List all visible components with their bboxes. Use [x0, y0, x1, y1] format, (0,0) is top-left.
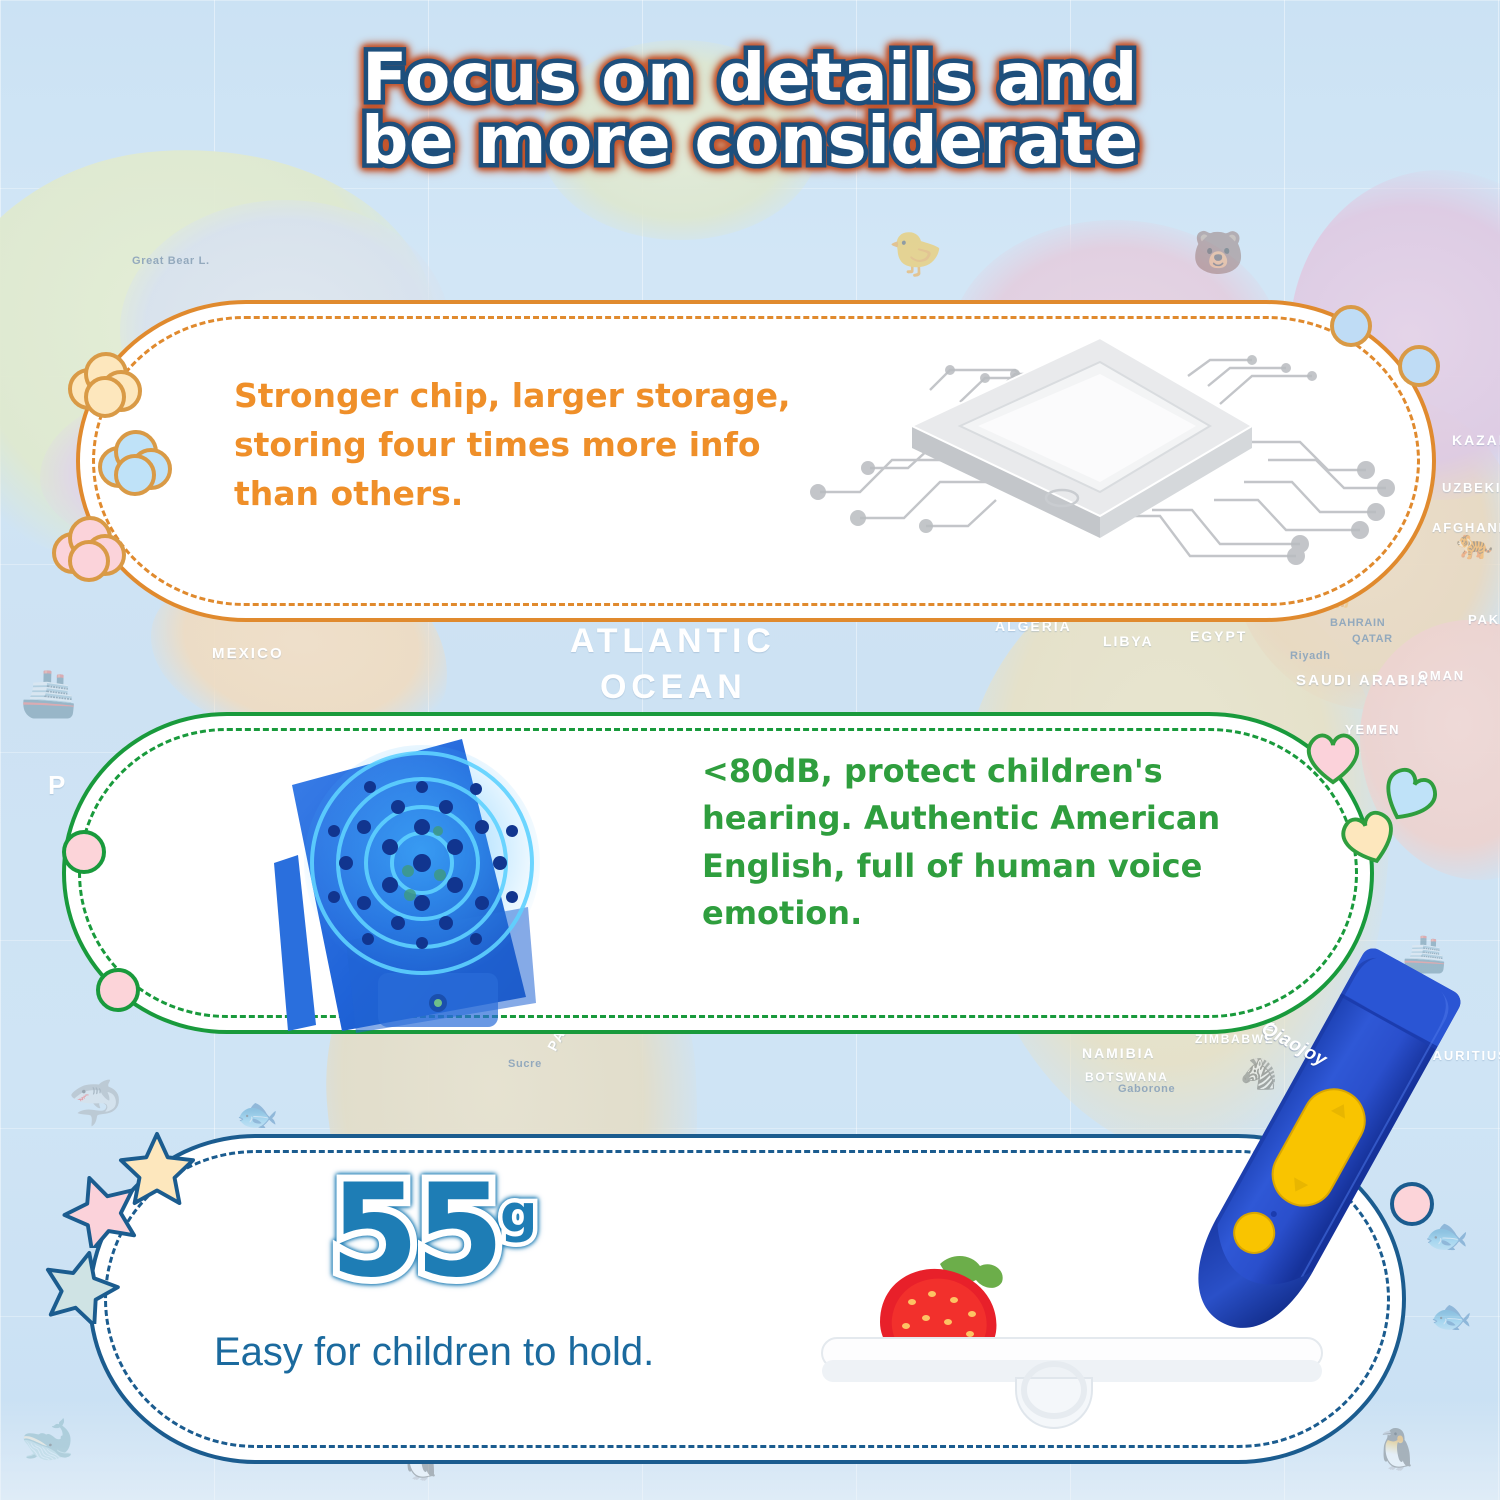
title-line-1: Focus on details and — [0, 46, 1500, 109]
fish-icon: 🐟 — [236, 1098, 278, 1132]
infographic-canvas: ATLANTIC OCEAN Great Bear L. MEXICO ALGE… — [0, 0, 1500, 1500]
weight-number: 55 — [330, 1157, 500, 1306]
heart-pink-icon — [1302, 728, 1364, 786]
chip-panel-text: Stronger chip, larger storage, storing f… — [234, 372, 834, 518]
bear-icon: 🐻 — [1192, 232, 1244, 274]
flower-pink-icon — [52, 516, 126, 582]
whale-icon: 🐋 — [20, 1418, 75, 1462]
weight-unit: g — [500, 1184, 533, 1244]
star-pink-icon — [62, 1172, 140, 1248]
title-line-2: be more considerate — [0, 109, 1500, 172]
rim-dot-pink — [96, 968, 140, 1012]
weight-value: 55g — [330, 1168, 650, 1308]
heart-yellow-icon — [1338, 808, 1400, 866]
weight-caption: Easy for children to hold. — [214, 1330, 774, 1375]
audio-panel-text: <80dB, protect children's hearing. Authe… — [702, 748, 1282, 937]
rim-dot-blue — [1398, 345, 1440, 387]
bird-icon: 🐤 — [888, 232, 943, 276]
reading-pen-image — [1150, 930, 1480, 1370]
star-teal-icon — [42, 1248, 120, 1324]
page-title: Focus on details and be more considerate — [0, 46, 1500, 173]
rim-dot-pink — [62, 830, 106, 874]
boat-icon: 🚢 — [20, 670, 77, 716]
shark-icon: 🦈 — [68, 1082, 123, 1126]
microchip-image — [800, 330, 1420, 580]
speaker-module-image — [250, 735, 570, 1035]
flower-yellow-icon — [68, 352, 142, 418]
penguin-icon: 🐧 — [1372, 1430, 1422, 1470]
rim-dot-blue — [1330, 305, 1372, 347]
leopard-icon: 🐅 — [1456, 530, 1493, 560]
flower-blue-icon — [98, 430, 172, 496]
